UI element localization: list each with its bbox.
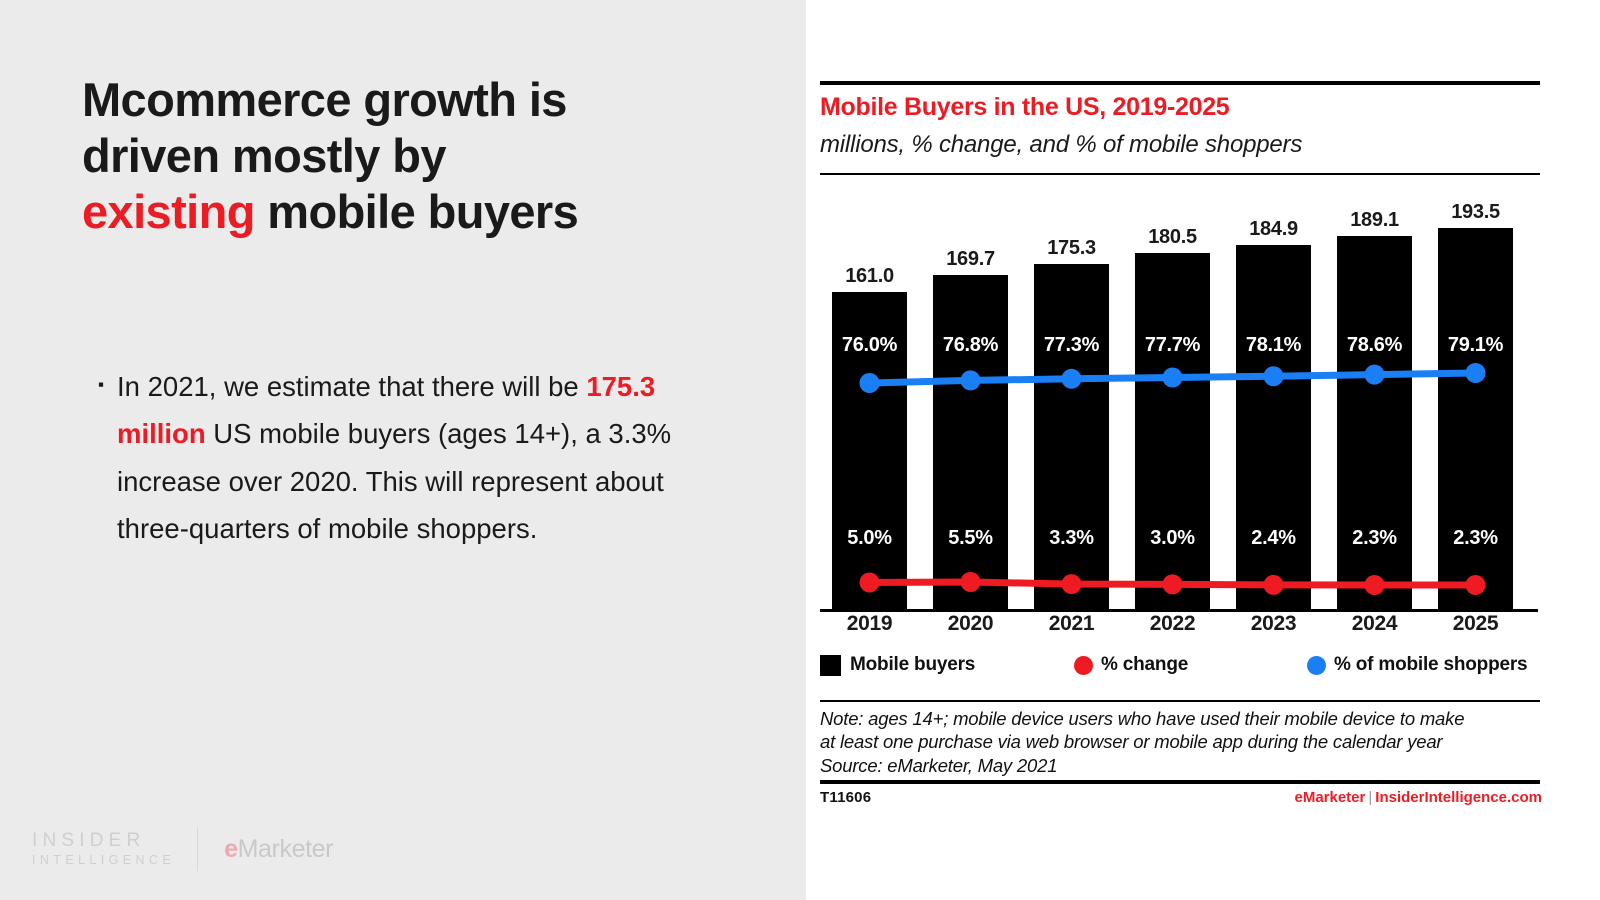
- blue-value-label: 78.6%: [1337, 334, 1412, 357]
- headline-line-3-rest: mobile buyers: [255, 185, 578, 238]
- x-axis-label: 2025: [1438, 612, 1513, 636]
- chart-header-rule: [820, 173, 1540, 175]
- left-panel: Mcommerce growth is driven mostly by exi…: [0, 0, 806, 900]
- red-value-label: 2.3%: [1438, 527, 1513, 550]
- emarketer-logo-e: e: [224, 835, 238, 863]
- bar-column: 184.978.1%2.4%: [1236, 195, 1311, 610]
- bar-value-label: 169.7: [933, 248, 1008, 271]
- x-axis-label: 2021: [1034, 612, 1109, 636]
- insider-logo-top: INSIDER: [32, 829, 175, 853]
- blue-value-label: 78.1%: [1236, 334, 1311, 357]
- chart-top-rule: [820, 81, 1540, 85]
- bar-value-label: 180.5: [1135, 226, 1210, 249]
- x-axis-label: 2022: [1135, 612, 1210, 636]
- chart-subtitle: millions, % change, and % of mobile shop…: [820, 131, 1302, 159]
- blue-value-label: 77.7%: [1135, 334, 1210, 357]
- bullet-text-part-1: In 2021, we estimate that there will be: [117, 371, 586, 402]
- chart-footer: T11606 eMarketer|InsiderIntelligence.com: [820, 789, 1542, 806]
- chart-note: Note: ages 14+; mobile device users who …: [820, 707, 1546, 777]
- x-axis-label: 2019: [832, 612, 907, 636]
- headline-accent-word: existing: [82, 185, 255, 238]
- bar-value-label: 193.5: [1438, 201, 1513, 224]
- insider-logo-bottom: INTELLIGENCE: [32, 853, 175, 869]
- bar-column: 161.076.0%5.0%: [832, 195, 907, 610]
- bar-value-label: 161.0: [832, 265, 907, 288]
- note-source-line: Source: eMarketer, May 2021: [820, 754, 1546, 777]
- x-axis-label: 2024: [1337, 612, 1412, 636]
- headline-line-2: driven mostly by: [82, 129, 446, 182]
- footer-brand: eMarketer|InsiderIntelligence.com: [1294, 789, 1542, 806]
- legend-red-dot-icon: [1074, 656, 1093, 675]
- bar: [933, 275, 1008, 610]
- red-value-label: 5.5%: [933, 527, 1008, 550]
- x-axis-labels: 2019202020212022202320242025: [820, 612, 1540, 642]
- legend-label-pct-mobile-shoppers: % of mobile shoppers: [1334, 654, 1527, 676]
- chart-legend: Mobile buyers % change % of mobile shopp…: [820, 654, 1546, 682]
- slide: Mcommerce growth is driven mostly by exi…: [0, 0, 1600, 900]
- note-line-1: Note: ages 14+; mobile device users who …: [820, 707, 1546, 730]
- bar-value-label: 184.9: [1236, 218, 1311, 241]
- x-axis-label: 2020: [933, 612, 1008, 636]
- legend-item-mobile-buyers: Mobile buyers: [820, 654, 975, 676]
- bar-value-label: 175.3: [1034, 237, 1109, 260]
- legend-square-icon: [820, 655, 841, 676]
- legend-label-pct-change: % change: [1101, 654, 1188, 676]
- bar: [1337, 236, 1412, 610]
- bar: [1034, 264, 1109, 610]
- legend-item-pct-change: % change: [1074, 654, 1188, 676]
- chart-plot-area: 161.076.0%5.0%169.776.8%5.5%175.377.3%3.…: [820, 195, 1540, 610]
- chart-title: Mobile Buyers in the US, 2019-2025: [820, 93, 1229, 122]
- headline-line-1: Mcommerce growth is: [82, 73, 567, 126]
- x-axis-label: 2023: [1236, 612, 1311, 636]
- blue-value-label: 76.8%: [933, 334, 1008, 357]
- red-value-label: 5.0%: [832, 527, 907, 550]
- footer-emarketer: eMarketer: [1294, 789, 1365, 806]
- chart-card: Mobile Buyers in the US, 2019-2025 milli…: [806, 0, 1600, 900]
- brand-logo: INSIDER INTELLIGENCE eMarketer: [32, 826, 333, 872]
- blue-value-label: 79.1%: [1438, 334, 1513, 357]
- bar: [1236, 245, 1311, 610]
- red-value-label: 2.3%: [1337, 527, 1412, 550]
- footer-rule: [820, 780, 1540, 784]
- bar-column: 175.377.3%3.3%: [1034, 195, 1109, 610]
- note-top-rule: [820, 700, 1540, 702]
- chart-id: T11606: [820, 789, 871, 806]
- logo-divider: [197, 827, 198, 871]
- bar: [1135, 253, 1210, 610]
- insider-intelligence-logo: INSIDER INTELLIGENCE: [32, 829, 175, 868]
- footer-separator: |: [1368, 789, 1372, 806]
- legend-item-pct-mobile-shoppers: % of mobile shoppers: [1307, 654, 1527, 676]
- bar-column: 180.577.7%3.0%: [1135, 195, 1210, 610]
- bullet-list-item: ▪ In 2021, we estimate that there will b…: [98, 363, 698, 552]
- blue-value-label: 77.3%: [1034, 334, 1109, 357]
- bar-value-label: 189.1: [1337, 209, 1412, 232]
- emarketer-logo-rest: Marketer: [238, 835, 333, 863]
- footer-site: InsiderIntelligence.com: [1375, 789, 1542, 806]
- bullet-text: In 2021, we estimate that there will be …: [117, 363, 683, 552]
- legend-blue-dot-icon: [1307, 656, 1326, 675]
- legend-label-mobile-buyers: Mobile buyers: [850, 654, 975, 676]
- emarketer-logo: eMarketer: [224, 835, 333, 864]
- page-title: Mcommerce growth is driven mostly by exi…: [82, 72, 722, 240]
- note-line-2: at least one purchase via web browser or…: [820, 730, 1546, 753]
- bar-column: 193.579.1%2.3%: [1438, 195, 1513, 610]
- bar-column: 169.776.8%5.5%: [933, 195, 1008, 610]
- red-value-label: 2.4%: [1236, 527, 1311, 550]
- red-value-label: 3.3%: [1034, 527, 1109, 550]
- bar-column: 189.178.6%2.3%: [1337, 195, 1412, 610]
- bar: [1438, 228, 1513, 610]
- red-value-label: 3.0%: [1135, 527, 1210, 550]
- blue-value-label: 76.0%: [832, 334, 907, 357]
- bullet-marker-icon: ▪: [98, 376, 104, 393]
